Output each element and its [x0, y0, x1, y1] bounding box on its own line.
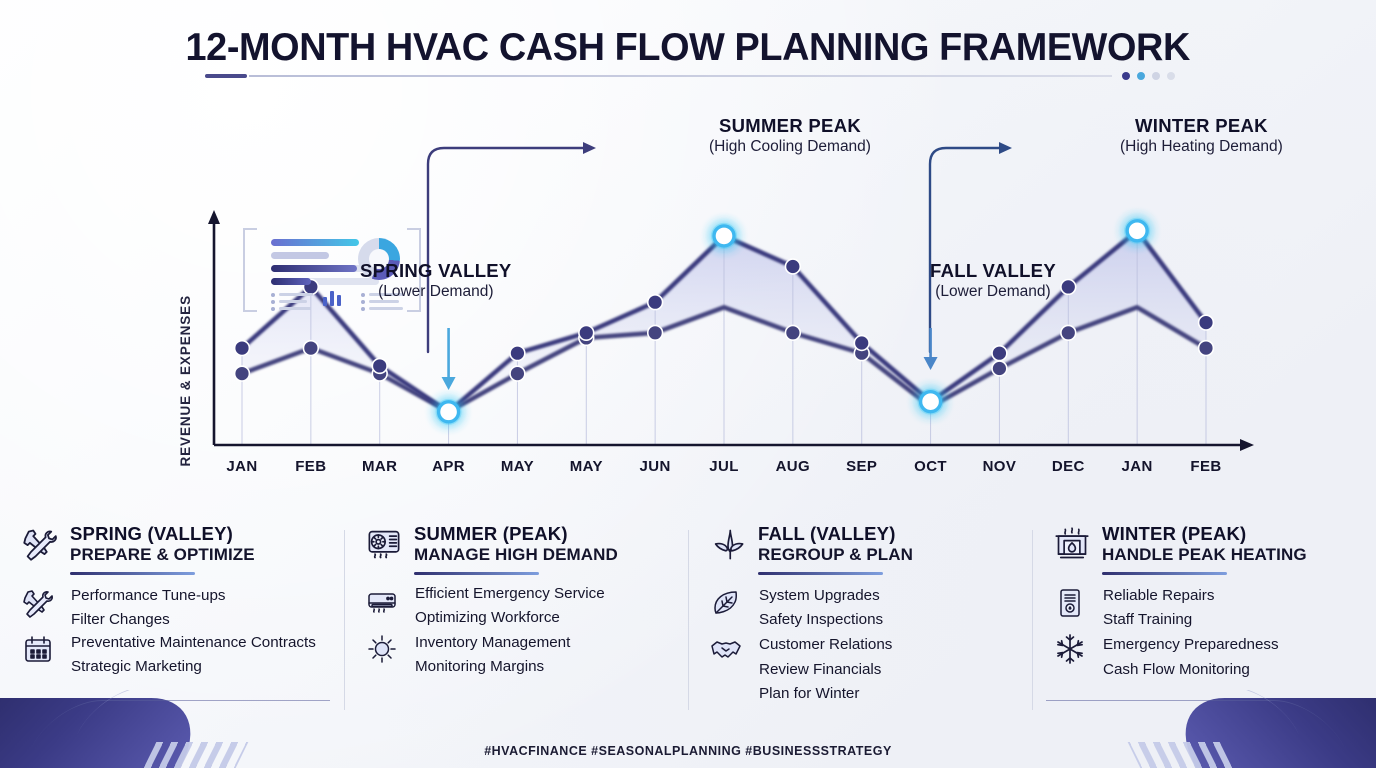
season-card: FALL (VALLEY)REGROUP & PLANSystem Upgrad…: [688, 524, 1032, 724]
annotation-subtitle: (High Cooling Demand): [709, 138, 871, 156]
x-axis-label: APR: [432, 458, 465, 475]
wrench-screwdriver-icon: [22, 526, 58, 562]
card-body-icons: [22, 584, 60, 680]
card-header: SPRING (VALLEY)PREPARE & OPTIMIZE: [22, 524, 328, 565]
card-item-list: Performance Tune-upsFilter ChangesPreven…: [71, 584, 316, 680]
x-axis-month-labels: JANFEBMARAPRMAYMAYJUNJULAUGSEPOCTNOVDECJ…: [0, 458, 1376, 488]
snowflake-icon: [1054, 633, 1092, 665]
widget-bar: [271, 265, 357, 272]
footer-hashtags: #HVACFINANCE #SEASONALPLANNING #BUSINESS…: [0, 744, 1376, 758]
widget-bar: [271, 239, 359, 246]
x-axis-label: DEC: [1052, 458, 1085, 475]
calendar-icon: [22, 633, 60, 665]
card-item: Safety Inspections: [759, 608, 892, 633]
sun-icon: [366, 633, 404, 665]
card-titles: SPRING (VALLEY)PREPARE & OPTIMIZE: [70, 524, 255, 565]
card-body: Performance Tune-upsFilter ChangesPreven…: [22, 584, 328, 680]
card-item: Optimizing Workforce: [415, 606, 605, 631]
y-axis-label: REVENUE & EXPENSES: [178, 295, 200, 467]
card-item: Monitoring Margins: [415, 655, 605, 680]
underline-dot: [1122, 72, 1130, 80]
underline-dot: [1167, 72, 1175, 80]
annotation-heading: FALL VALLEY: [930, 260, 1056, 282]
ac-condenser-icon: [366, 526, 402, 562]
season-card: WINTER (PEAK)HANDLE PEAK HEATINGReliable…: [1032, 524, 1376, 724]
x-axis-label: FEB: [295, 458, 326, 475]
annotation-subtitle: (Lower Demand): [360, 283, 512, 301]
card-item: Inventory Management: [415, 631, 605, 656]
x-axis-label: JAN: [1122, 458, 1153, 475]
underline-dots: [1122, 72, 1175, 80]
mini-bar-chart-icon: [323, 288, 341, 306]
annotation-fall-valley: FALL VALLEY (Lower Demand): [930, 260, 1056, 301]
chart-plot-area: [0, 100, 1376, 500]
card-item: Cash Flow Monitoring: [1103, 658, 1279, 683]
title-underline: [205, 74, 1175, 78]
widget-bar: [271, 252, 329, 259]
card-subtitle: HANDLE PEAK HEATING: [1102, 545, 1307, 565]
card-item-list: Efficient Emergency ServiceOptimizing Wo…: [415, 584, 605, 680]
annotation-spring-valley: SPRING VALLEY (Lower Demand): [360, 260, 512, 301]
wrench-screwdriver-icon: [22, 587, 60, 619]
x-axis-label: MAR: [362, 458, 397, 475]
x-axis-label: JAN: [226, 458, 257, 475]
underline-accent: [205, 74, 247, 78]
x-axis-label: FEB: [1190, 458, 1221, 475]
card-accent-bar: [70, 572, 195, 575]
card-item: Staff Training: [1103, 608, 1279, 633]
card-item: Customer Relations: [759, 633, 892, 658]
annotation-heading: SUMMER PEAK: [709, 115, 871, 137]
leaf-icon: [710, 587, 748, 619]
card-item: Reliable Repairs: [1103, 584, 1279, 609]
card-item: Emergency Preparedness: [1103, 633, 1279, 658]
season-card: SPRING (VALLEY)PREPARE & OPTIMIZEPerform…: [0, 524, 344, 724]
title-block: 12-MONTH HVAC CASH FLOW PLANNING FRAMEWO…: [0, 26, 1376, 70]
x-axis-label: OCT: [914, 458, 947, 475]
card-item: Plan for Winter: [759, 682, 892, 707]
card-titles: SUMMER (PEAK)MANAGE HIGH DEMAND: [414, 524, 618, 565]
annotation-winter-peak: WINTER PEAK (High Heating Demand): [1120, 115, 1283, 156]
page-title: 12-MONTH HVAC CASH FLOW PLANNING FRAMEWO…: [186, 26, 1190, 70]
annotation-subtitle: (High Heating Demand): [1120, 138, 1283, 156]
x-axis-label: MAY: [570, 458, 603, 475]
card-title: FALL (VALLEY): [758, 524, 913, 545]
card-item: Performance Tune-ups: [71, 584, 316, 609]
card-accent-bar: [1102, 572, 1227, 575]
x-axis-label: JUN: [640, 458, 671, 475]
card-title: SUMMER (PEAK): [414, 524, 618, 545]
card-item: Review Financials: [759, 658, 892, 683]
card-item-list: System UpgradesSafety InspectionsCustome…: [759, 584, 892, 707]
underline-line: [249, 75, 1112, 77]
card-titles: FALL (VALLEY)REGROUP & PLAN: [758, 524, 913, 565]
card-body-icons: [366, 584, 404, 680]
card-body: Reliable RepairsStaff TrainingEmergency …: [1054, 584, 1360, 683]
card-body: Efficient Emergency ServiceOptimizing Wo…: [366, 584, 672, 680]
annotation-heading: WINTER PEAK: [1120, 115, 1283, 137]
card-item: Preventative Maintenance Contracts: [71, 633, 316, 652]
card-item: Filter Changes: [71, 608, 316, 633]
ac-unit-icon: [366, 587, 404, 619]
card-item: Efficient Emergency Service: [415, 584, 605, 603]
card-item: System Upgrades: [759, 584, 892, 609]
card-header: SUMMER (PEAK)MANAGE HIGH DEMAND: [366, 524, 672, 565]
handshake-icon: [710, 633, 748, 665]
seasonal-action-cards: SPRING (VALLEY)PREPARE & OPTIMIZEPerform…: [0, 524, 1376, 724]
widget-bar: [271, 278, 311, 285]
card-subtitle: MANAGE HIGH DEMAND: [414, 545, 618, 565]
annotation-summer-peak: SUMMER PEAK (High Cooling Demand): [709, 115, 871, 156]
card-header: WINTER (PEAK)HANDLE PEAK HEATING: [1054, 524, 1360, 565]
annotation-subtitle: (Lower Demand): [930, 283, 1056, 301]
card-item-list: Reliable RepairsStaff TrainingEmergency …: [1103, 584, 1279, 683]
seasonal-cashflow-chart: REVENUE & EXPENSES SPRING VALLEY (Lower …: [0, 100, 1376, 500]
card-item: Strategic Marketing: [71, 655, 316, 680]
bracket-left: [243, 228, 257, 312]
x-axis-label: SEP: [846, 458, 877, 475]
leaf-branch-icon: [710, 526, 746, 562]
x-axis-label: AUG: [776, 458, 811, 475]
card-accent-bar: [414, 572, 539, 575]
card-subtitle: REGROUP & PLAN: [758, 545, 913, 565]
card-titles: WINTER (PEAK)HANDLE PEAK HEATING: [1102, 524, 1307, 565]
card-subtitle: PREPARE & OPTIMIZE: [70, 545, 255, 565]
card-body-icons: [710, 584, 748, 707]
fireplace-icon: [1054, 526, 1090, 562]
season-card: SUMMER (PEAK)MANAGE HIGH DEMANDEfficient…: [344, 524, 688, 724]
card-body-icons: [1054, 584, 1092, 683]
card-title: WINTER (PEAK): [1102, 524, 1307, 545]
card-title: SPRING (VALLEY): [70, 524, 255, 545]
underline-dot: [1152, 72, 1160, 80]
x-axis-label: MAY: [501, 458, 534, 475]
card-accent-bar: [758, 572, 883, 575]
card-header: FALL (VALLEY)REGROUP & PLAN: [710, 524, 1016, 565]
x-axis-label: JUL: [709, 458, 739, 475]
x-axis-label: NOV: [983, 458, 1017, 475]
underline-dot: [1137, 72, 1145, 80]
annotation-heading: SPRING VALLEY: [360, 260, 512, 282]
card-body: System UpgradesSafety InspectionsCustome…: [710, 584, 1016, 707]
furnace-icon: [1054, 587, 1092, 619]
